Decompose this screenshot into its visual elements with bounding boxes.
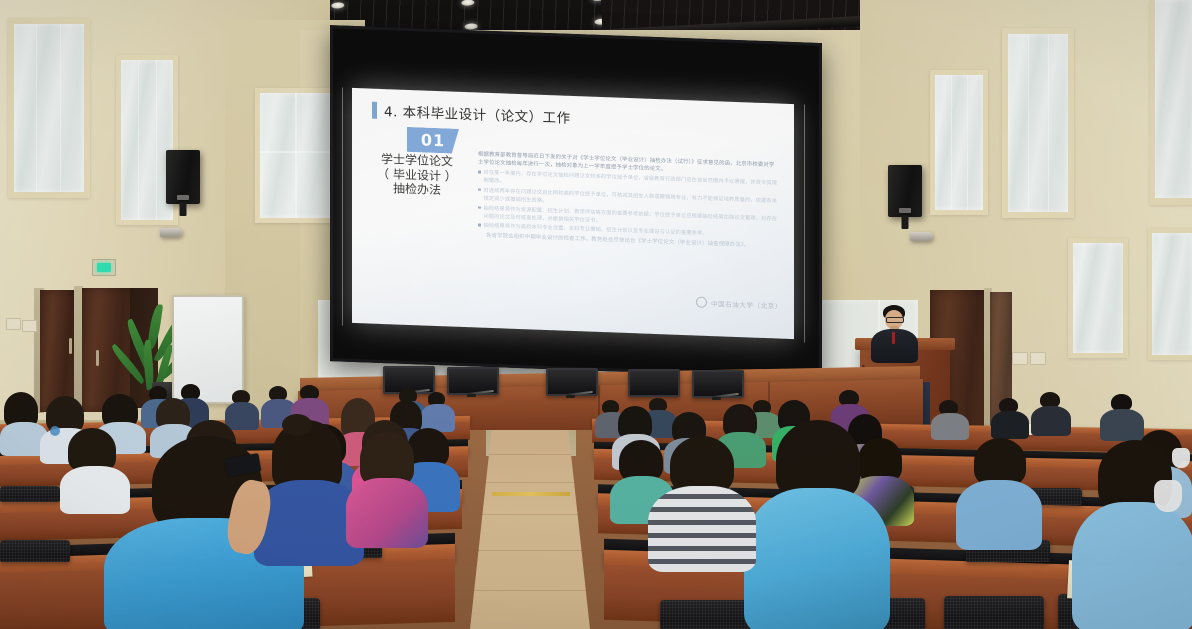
university-seal-icon (696, 297, 707, 308)
window-panel-right-5-frame (1148, 228, 1192, 360)
lecture-hall-photo: 4. 本科毕业设计（论文）工作 01 学士学位论文 （ 毕业设计 ） 抽检办法 … (0, 0, 1192, 629)
wall-outlet-left-2[interactable] (22, 320, 37, 332)
exit-running-man-icon (97, 263, 111, 272)
audience-member (648, 436, 756, 566)
slide-subtitle: 学士学位论文 （ 毕业设计 ） 抽检办法 (362, 151, 472, 199)
wall-speaker-right (888, 165, 922, 217)
exit-sign (92, 259, 116, 276)
security-camera-right (910, 232, 933, 241)
projected-slide-surface: 4. 本科毕业设计（论文）工作 01 学士学位论文 （ 毕业设计 ） 抽检办法 … (352, 88, 794, 339)
wall-outlet-right-2[interactable] (1030, 352, 1046, 365)
bullet-marker-icon (478, 171, 481, 174)
slide-body: 根据教育部教育督导局近日下发的关于对《学士学位论文（毕业设计）抽检办法（试行）》… (478, 151, 778, 253)
window-panel-right-4-frame (1068, 238, 1128, 358)
wall-outlet-left-1[interactable] (6, 318, 21, 330)
chair[interactable] (944, 596, 1044, 629)
security-camera-left (160, 228, 182, 237)
audience-member (744, 420, 890, 629)
slide-title: 4. 本科毕业设计（论文）工作 (384, 100, 571, 127)
wall-outlet-right-1[interactable] (1012, 352, 1028, 365)
bullet-marker-icon (478, 206, 481, 209)
audience-member (930, 400, 970, 438)
chair[interactable] (0, 540, 70, 562)
dais-monitor-4 (628, 369, 680, 397)
audience-member (1030, 392, 1072, 434)
audience-member (346, 432, 428, 542)
window-panel-right-3-frame (1150, 0, 1192, 205)
window-panel-left-1-frame (8, 18, 90, 198)
bullet-marker-icon (478, 224, 481, 227)
window-panel-left-3-frame (255, 88, 337, 223)
slide-logo-text: 中国石油大学（北京） (711, 298, 782, 311)
audience-member (956, 438, 1042, 542)
projection-screen: 4. 本科毕业设计（论文）工作 01 学士学位论文 （ 毕业设计 ） 抽检办法 … (330, 25, 816, 373)
bullet-marker-icon (478, 188, 481, 191)
slide-section-badge: 01 (407, 127, 459, 154)
slide-title-accent-bar (372, 101, 377, 118)
slide-content: 4. 本科毕业设计（论文）工作 01 学士学位论文 （ 毕业设计 ） 抽检办法 … (352, 88, 794, 339)
wall-speaker-left (166, 150, 200, 204)
window-panel-right-2-frame (1002, 28, 1074, 218)
slide-university-logo: 中国石油大学（北京） (696, 297, 782, 311)
slide-title-row: 4. 本科毕业设计（论文）工作 (372, 100, 571, 127)
presenter (866, 305, 926, 355)
audience-member (990, 398, 1030, 438)
audience-member (1072, 440, 1192, 629)
presenter-glasses-icon (886, 317, 904, 323)
aisle-tactile-strip (492, 492, 570, 496)
chair[interactable] (0, 486, 60, 502)
window-panel-right-1-frame (930, 70, 988, 215)
